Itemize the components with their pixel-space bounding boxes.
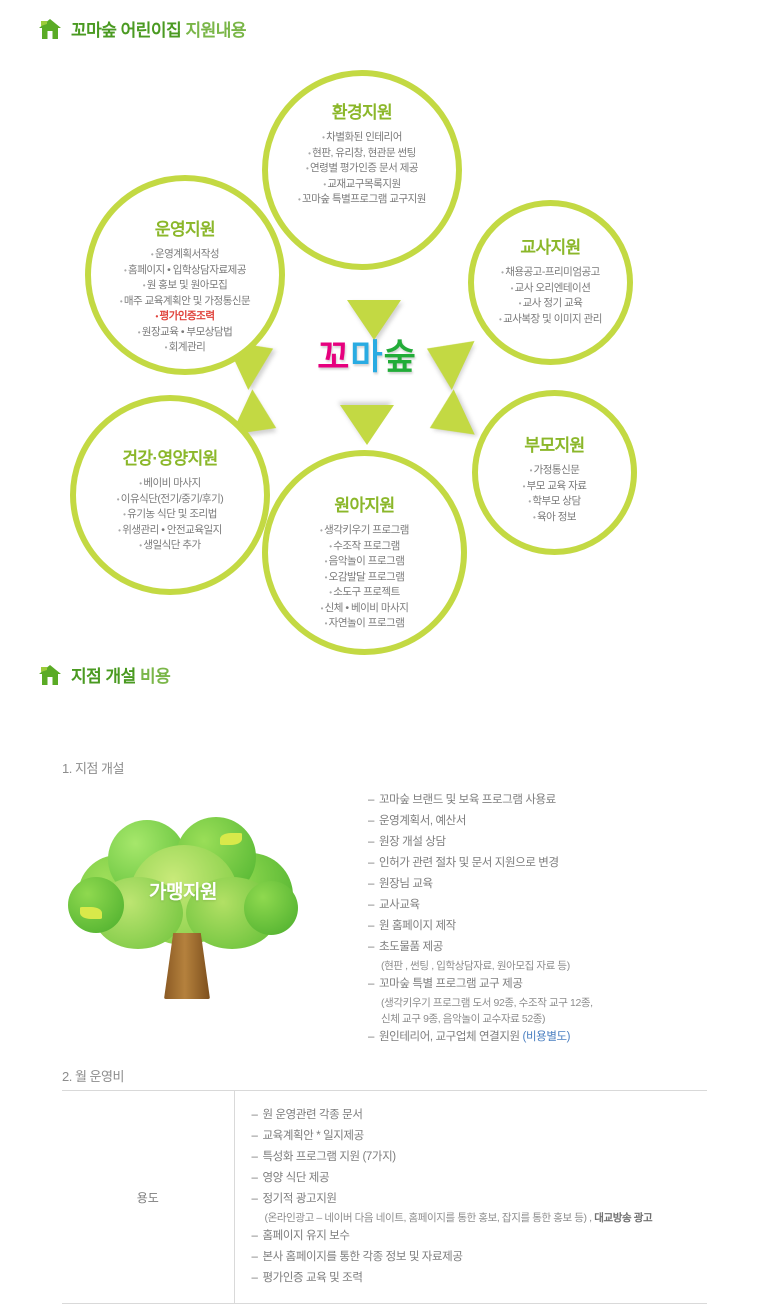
circle-operation[interactable]: 운영지원 운영계획서작성 홈페이지 • 입학상담자료제공 원 홍보 및 원아모집… (85, 175, 285, 375)
circle-item-list: 생각키우기 프로그램 수조작 프로그램 음악놀이 프로그램 오감발달 프로그램 … (320, 523, 409, 632)
list-item: 연령별 평가인증 문서 제공 (298, 161, 426, 177)
list-item: 교사복장 및 이미지 관리 (499, 312, 602, 328)
home-icon (38, 18, 62, 40)
list-item: 베이비 마사지 (117, 476, 223, 492)
list-item: –교사교육 (368, 895, 593, 916)
section-title: 지점 개설 비용 (71, 662, 170, 687)
list-item: 오감발달 프로그램 (320, 570, 409, 586)
circle-title: 환경지원 (332, 98, 392, 123)
list-item: –본사 홈페이지를 통한 각종 정보 및 자료제공 (252, 1247, 708, 1268)
section-header-cost: 지점 개설 비용 (38, 662, 170, 687)
leaf-accent-left (80, 907, 102, 919)
list-item: –평가인증 교육 및 조력 (252, 1268, 708, 1289)
list-item: 생일식단 추가 (117, 538, 223, 554)
list-item: 생각키우기 프로그램 (320, 523, 409, 539)
list-item: 원장교육 • 부모상담법 (120, 325, 250, 341)
list-item: 매주 교육계획안 및 가정통신문 (120, 294, 250, 310)
ad-note-emphasis: 대교방송 광고 (594, 1212, 652, 1224)
circle-title: 원아지원 (334, 491, 394, 516)
list-item: 수조작 프로그램 (320, 539, 409, 555)
section-header-support: 꼬마숲 어린이집 지원내용 (38, 16, 246, 41)
circle-item-list: 베이비 마사지 이유식단(전기/중기/후기) 유기농 식단 및 조리법 위생관리… (117, 476, 223, 554)
franchise-support-tree: 가맹지원 (68, 815, 298, 1000)
circle-environment[interactable]: 환경지원 차별화된 인테리어 현판, 유리창, 현관문 썬팅 연령별 평가인증 … (262, 70, 462, 270)
circle-title: 건강·영양지원 (122, 444, 217, 469)
list-item: –홈페이지 유지 보수 (252, 1226, 708, 1247)
circle-title: 운영지원 (155, 215, 215, 240)
list-item: 꼬마숲 특별프로그램 교구지원 (298, 192, 426, 208)
list-item: 홈페이지 • 입학상담자료제공 (120, 263, 250, 279)
list-item: 신체 • 베이비 마사지 (320, 601, 409, 617)
list-item-note: (생각키우기 프로그램 도서 92종, 수조작 교구 12종, 신체 교구 9종… (368, 995, 593, 1027)
list-item: 채용공고-프리미엄공고 (499, 265, 602, 281)
list-item: 교사 정기 교육 (499, 296, 602, 312)
list-item: –꼬마숲 브랜드 및 보육 프로그램 사용료 (368, 790, 593, 811)
list-item: –원 운영관련 각종 문서 (252, 1105, 708, 1126)
circle-parent[interactable]: 부모지원 가정통신문 부모 교육 자료 학부모 상담 육아 정보 (472, 390, 637, 555)
arrow-from-parent (419, 389, 475, 450)
section-title: 꼬마숲 어린이집 지원내용 (71, 16, 246, 41)
list-item: 회계관리 (120, 340, 250, 356)
list-item: 원 홍보 및 원아모집 (120, 278, 250, 294)
table-row-body: –원 운영관련 각종 문서 –교육계획안 * 일지제공 –특성화 프로그램 지원… (234, 1091, 707, 1304)
list-item: –원장님 교육 (368, 874, 593, 895)
circle-item-list: 차별화된 인테리어 현판, 유리창, 현관문 썬팅 연령별 평가인증 문서 제공… (298, 130, 426, 208)
circle-item-list: 가정통신문 부모 교육 자료 학부모 상담 육아 정보 (523, 463, 587, 525)
list-item: –원 홈페이지 제작 (368, 916, 593, 937)
monthly-fee-list: –원 운영관련 각종 문서 –교육계획안 * 일지제공 –특성화 프로그램 지원… (252, 1105, 708, 1289)
list-item: –교육계획안 * 일지제공 (252, 1126, 708, 1147)
table-row: 용도 –원 운영관련 각종 문서 –교육계획안 * 일지제공 –특성화 프로그램… (62, 1091, 707, 1304)
list-item: 자연놀이 프로그램 (320, 616, 409, 632)
list-item: –운영계획서, 예산서 (368, 811, 593, 832)
list-item: 육아 정보 (523, 510, 587, 526)
list-item: –영양 식단 제공 (252, 1168, 708, 1189)
branch-opening-list: –꼬마숲 브랜드 및 보육 프로그램 사용료 –운영계획서, 예산서 –원장 개… (368, 790, 593, 1048)
list-item: 운영계획서작성 (120, 247, 250, 263)
list-item: 이유식단(전기/중기/후기) (117, 492, 223, 508)
circle-teacher[interactable]: 교사지원 채용공고-프리미엄공고 교사 오리엔테이션 교사 정기 교육 교사복장… (468, 200, 633, 365)
circle-item-list: 운영계획서작성 홈페이지 • 입학상담자료제공 원 홍보 및 원아모집 매주 교… (120, 247, 250, 356)
list-item: 유기농 식단 및 조리법 (117, 507, 223, 523)
list-item: –정기적 광고지원 (온라인광고 – 네이버 다음 네이트, 홈페이지를 통한 … (252, 1189, 708, 1226)
list-item: –초도물품 제공 (현판 , 썬팅 , 입학상담자료, 원아모집 자료 등) (368, 937, 593, 974)
arrow-from-child (340, 405, 394, 445)
circle-child[interactable]: 원아지원 생각키우기 프로그램 수조작 프로그램 음악놀이 프로그램 오감발달 … (262, 450, 467, 655)
list-item: 교사 오리엔테이션 (499, 281, 602, 297)
list-item-highlighted: 평가인증조력 (120, 309, 250, 325)
leaf-accent-right (220, 833, 242, 845)
support-diagram: 꼬마숲 환경지원 차별화된 인테리어 현판, 유리창, 현관문 썬팅 연령별 평… (0, 55, 767, 655)
list-item: –인허가 관련 절차 및 문서 지원으로 변경 (368, 853, 593, 874)
list-item: 부모 교육 자료 (523, 479, 587, 495)
circle-item-list: 채용공고-프리미엄공고 교사 오리엔테이션 교사 정기 교육 교사복장 및 이미… (499, 265, 602, 327)
list-item: –원장 개설 상담 (368, 832, 593, 853)
extra-cost-note: (비용별도) (523, 1031, 571, 1043)
list-item: –원인테리어, 교구업체 연결지원 (비용별도) (368, 1027, 593, 1048)
list-item: 가정통신문 (523, 463, 587, 479)
list-item: 현판, 유리창, 현관문 썬팅 (298, 146, 426, 162)
list-item: –꼬마숲 특별 프로그램 교구 제공 (생각키우기 프로그램 도서 92종, 수… (368, 974, 593, 1027)
list-item: 소도구 프로젝트 (320, 585, 409, 601)
table-row-label: 용도 (62, 1091, 234, 1304)
list-item: –특성화 프로그램 지원 (7가지) (252, 1147, 708, 1168)
circle-title: 부모지원 (524, 431, 584, 456)
list-item: 음악놀이 프로그램 (320, 554, 409, 570)
home-icon (38, 664, 62, 686)
circle-health-nutrition[interactable]: 건강·영양지원 베이비 마사지 이유식단(전기/중기/후기) 유기농 식단 및 … (70, 395, 270, 595)
circle-title: 교사지원 (520, 233, 580, 258)
subsection-heading-1: 1. 지점 개설 (62, 758, 124, 777)
list-item-note: (현판 , 썬팅 , 입학상담자료, 원아모집 자료 등) (368, 958, 593, 974)
tree-label: 가맹지원 (68, 877, 298, 904)
list-item-note: (온라인광고 – 네이버 다음 네이트, 홈페이지를 통한 홍보, 잡지를 통한… (252, 1210, 708, 1226)
list-item: 위생관리 • 안전교육일지 (117, 523, 223, 539)
subsection-heading-2: 2. 월 운영비 (62, 1066, 124, 1085)
monthly-fee-table: 용도 –원 운영관련 각종 문서 –교육계획안 * 일지제공 –특성화 프로그램… (62, 1090, 707, 1304)
brand-logo: 꼬마숲 (287, 328, 447, 388)
list-item: 교재교구목록지원 (298, 177, 426, 193)
list-item: 차별화된 인테리어 (298, 130, 426, 146)
list-item: 학부모 상담 (523, 494, 587, 510)
